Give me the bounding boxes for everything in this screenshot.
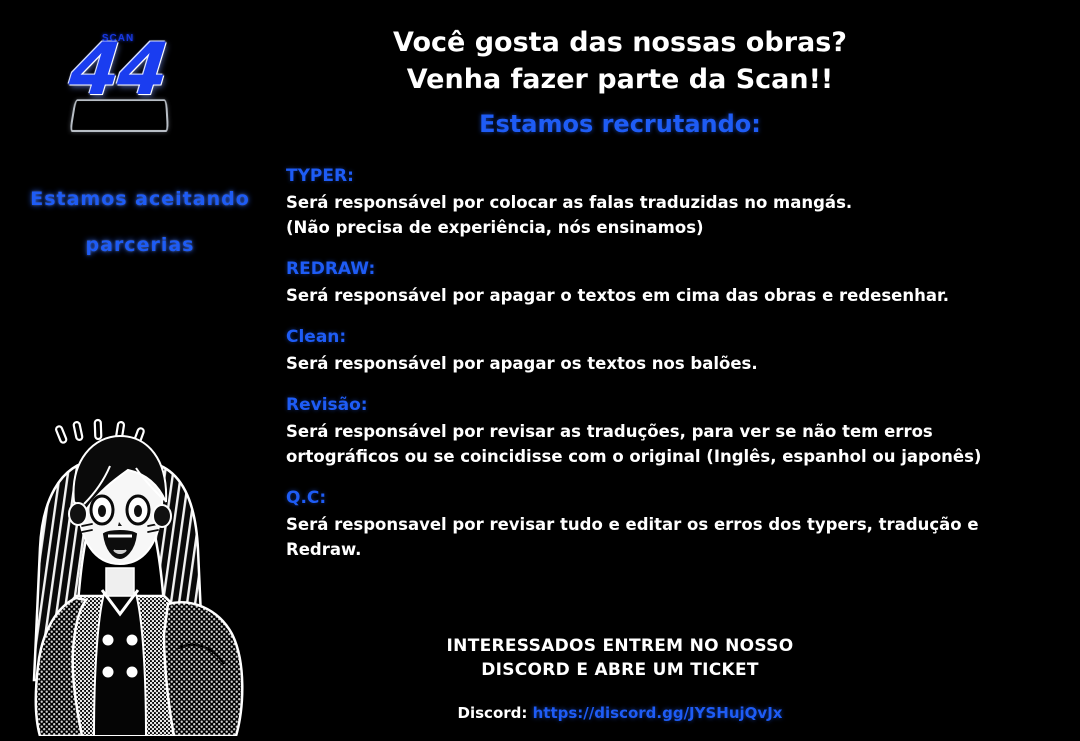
role-description: Será responsável por revisar as traduçõe… bbox=[286, 419, 986, 469]
partnership-line-2: parcerias bbox=[10, 222, 270, 268]
dress-button bbox=[127, 635, 138, 646]
manga-character-illustration bbox=[18, 418, 270, 736]
role-title: Q.C: bbox=[286, 488, 986, 508]
right-hair-tie bbox=[153, 505, 171, 527]
left-column: 44 SCAN Estamos aceitando parcerias bbox=[0, 0, 280, 736]
role-description: Será responsável por apagar os textos no… bbox=[286, 351, 986, 376]
role-block-qc: Q.C: Será responsavel por revisar tudo e… bbox=[286, 488, 986, 562]
left-hair-tie bbox=[69, 503, 87, 525]
role-desc-line: ortográficos ou se coincidisse com o ori… bbox=[286, 444, 986, 469]
cta-line-1: INTERESSADOS ENTREM NO NOSSO bbox=[280, 634, 960, 658]
role-block-clean: Clean: Será responsável por apagar os te… bbox=[286, 327, 986, 376]
recruitment-poster: 44 SCAN Estamos aceitando parcerias bbox=[0, 0, 1080, 736]
roles-list: TYPER: Será responsável por colocar as f… bbox=[286, 166, 986, 581]
headline-line-1: Você gosta das nossas obras? bbox=[280, 24, 960, 61]
dress-button bbox=[127, 667, 138, 678]
partnership-line-1: Estamos aceitando bbox=[30, 188, 250, 210]
role-description: Será responsavel por revisar tudo e edit… bbox=[286, 512, 986, 562]
discord-invite-link[interactable]: https://discord.gg/JYSHujQvJx bbox=[533, 704, 783, 722]
left-pupil bbox=[98, 505, 106, 517]
dress-button bbox=[103, 635, 114, 646]
right-pupil bbox=[134, 505, 142, 517]
recruiting-label: Estamos recrutando: bbox=[280, 110, 960, 138]
role-desc-line: Será responsável por colocar as falas tr… bbox=[286, 190, 986, 215]
right-sleeve bbox=[164, 602, 242, 736]
role-desc-line: Será responsável por apagar o textos em … bbox=[286, 283, 986, 308]
role-desc-line: (Não precisa de experiência, nós ensinam… bbox=[286, 215, 986, 240]
discord-row: Discord: https://discord.gg/JYSHujQvJx bbox=[280, 704, 960, 722]
role-desc-line: Redraw. bbox=[286, 537, 986, 562]
discord-label: Discord: bbox=[458, 704, 528, 722]
neck bbox=[106, 568, 134, 596]
logo-banner-shape bbox=[69, 99, 169, 132]
role-desc-line: Será responsavel por revisar tudo e edit… bbox=[286, 512, 986, 537]
logo-banner-text: SCAN bbox=[48, 33, 188, 44]
partnership-note: Estamos aceitando parcerias bbox=[10, 176, 270, 268]
role-desc-line: Será responsável por apagar os textos no… bbox=[286, 351, 986, 376]
role-block-revisao: Revisão: Será responsável por revisar as… bbox=[286, 395, 986, 469]
character-svg bbox=[18, 418, 270, 736]
role-title: Clean: bbox=[286, 327, 986, 347]
footer-call-to-action: INTERESSADOS ENTREM NO NOSSO DISCORD E A… bbox=[280, 634, 960, 682]
dress-button bbox=[103, 667, 114, 678]
main-content: Você gosta das nossas obras? Venha fazer… bbox=[280, 0, 1080, 736]
role-title: Revisão: bbox=[286, 395, 986, 415]
headline-line-2: Venha fazer parte da Scan!! bbox=[280, 61, 960, 98]
tongue bbox=[114, 550, 126, 553]
scan-logo: 44 SCAN bbox=[48, 26, 188, 138]
role-description: Será responsável por apagar o textos em … bbox=[286, 283, 986, 308]
role-description: Será responsável por colocar as falas tr… bbox=[286, 190, 986, 240]
role-block-redraw: REDRAW: Será responsável por apagar o te… bbox=[286, 259, 986, 308]
role-title: REDRAW: bbox=[286, 259, 986, 279]
role-title: TYPER: bbox=[286, 166, 986, 186]
cta-line-2: DISCORD E ABRE UM TICKET bbox=[280, 658, 960, 682]
role-block-typer: TYPER: Será responsável por colocar as f… bbox=[286, 166, 986, 240]
role-desc-line: Será responsável por revisar as traduçõe… bbox=[286, 419, 986, 444]
headline: Você gosta das nossas obras? Venha fazer… bbox=[280, 24, 960, 98]
